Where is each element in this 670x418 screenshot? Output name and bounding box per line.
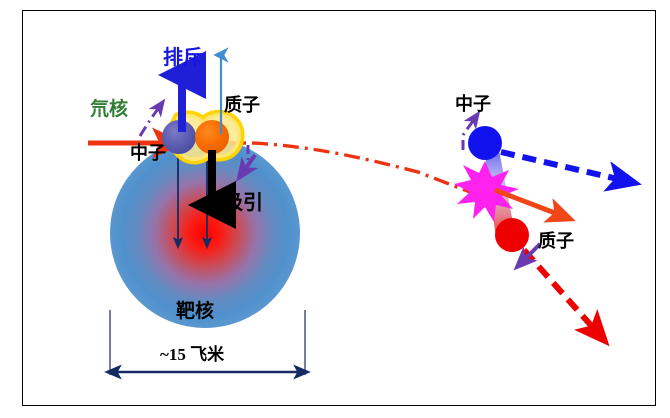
pointer-arrow-deuteron: [140, 106, 160, 136]
free-proton-particle: [495, 218, 529, 252]
label-proton-right: 质子: [538, 232, 574, 250]
label-repulsion: 排斥: [163, 47, 203, 67]
label-deuteron: 氘核: [90, 100, 128, 119]
diagram-figure: 氘核 排斥 质子 中子 吸引 靶核 ~15 飞米 中子 质子: [0, 0, 670, 418]
label-target-nucleus: 靶核: [176, 302, 214, 321]
label-nucleus-size: ~15 飞米: [160, 346, 224, 363]
proton-particle-left: [195, 120, 229, 154]
label-proton-left: 质子: [224, 96, 260, 114]
neutron-exit-arrow: [501, 152, 622, 180]
label-neutron-right: 中子: [455, 95, 491, 113]
target-nucleus-sphere: [110, 138, 300, 328]
diagram-canvas: [0, 0, 670, 418]
label-neutron-left: 中子: [130, 144, 166, 162]
free-neutron-particle: [468, 126, 502, 160]
proton-exit-arrow: [524, 250, 596, 331]
label-attraction: 吸引: [223, 192, 263, 212]
